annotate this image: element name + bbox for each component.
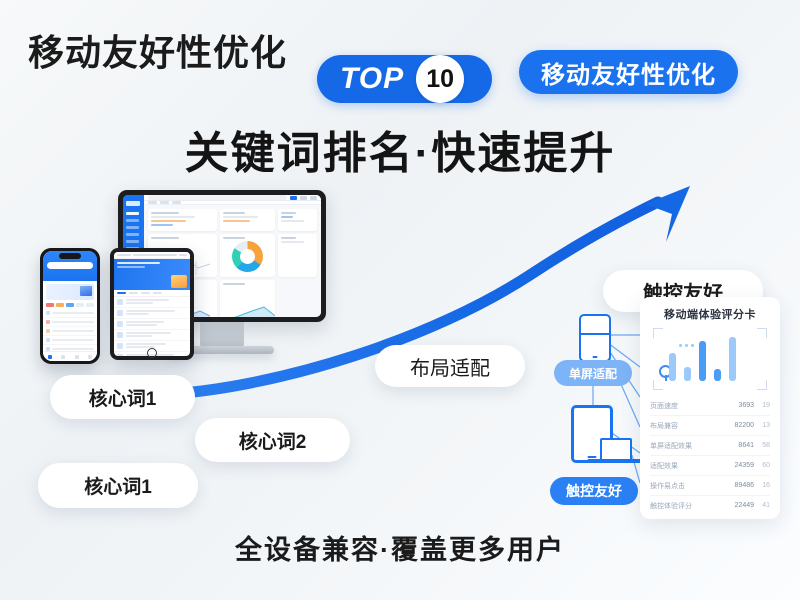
dashboard-nav-item bbox=[126, 212, 139, 215]
keyword-chip-1: 核心词1 bbox=[50, 375, 195, 419]
dashboard-nav-item bbox=[126, 233, 139, 236]
phone-mockup bbox=[40, 248, 100, 364]
score-card-rows: 页面速度 3693 19 布局兼容 82200 13 单屏适配效果 8641 5… bbox=[650, 396, 770, 515]
table-row: 触控体验评分 22449 41 bbox=[650, 496, 770, 515]
list-item bbox=[114, 319, 190, 330]
row-value-secondary: 13 bbox=[754, 422, 770, 429]
list-item bbox=[114, 308, 190, 319]
tablet-screen bbox=[114, 252, 190, 356]
diagram-tablet-icon bbox=[579, 314, 611, 362]
top-badge-number: 10 bbox=[416, 55, 464, 103]
dashboard-logo bbox=[126, 201, 140, 206]
list-item bbox=[43, 336, 97, 345]
monitor-stand bbox=[200, 321, 244, 348]
row-name: 布局兼容 bbox=[650, 421, 728, 431]
split-screen-tag: 单屏适配 bbox=[554, 360, 632, 386]
tablet-header bbox=[114, 252, 190, 259]
row-value-primary: 24359 bbox=[728, 462, 754, 469]
score-card-visual bbox=[653, 328, 767, 390]
row-value-secondary: 19 bbox=[754, 402, 770, 409]
row-value-secondary: 41 bbox=[754, 502, 770, 509]
row-name: 单屏适配效果 bbox=[650, 441, 728, 451]
touch-friendly-tag: 触控友好 bbox=[550, 477, 638, 505]
table-row: 页面速度 3693 19 bbox=[650, 396, 770, 416]
tablet-mockup bbox=[110, 248, 194, 360]
tablet-banner bbox=[114, 259, 190, 290]
dashboard-area-chart bbox=[220, 280, 275, 317]
tablet-bezel bbox=[110, 248, 194, 360]
dashboard-nav-item bbox=[126, 219, 139, 222]
top-badge-word: TOP bbox=[340, 62, 404, 96]
phone-search-bar bbox=[47, 262, 93, 269]
dashboard-card bbox=[220, 209, 275, 231]
list-item bbox=[43, 327, 97, 336]
row-value-secondary: 60 bbox=[754, 462, 770, 469]
list-item bbox=[43, 309, 97, 318]
table-row: 单屏适配效果 8641 58 bbox=[650, 436, 770, 456]
device-mockups bbox=[28, 190, 338, 370]
score-card-title: 移动端体验评分卡 bbox=[650, 306, 770, 322]
dashboard-action-chip bbox=[310, 196, 317, 200]
dashboard-card bbox=[148, 209, 217, 231]
dashboard-donut-chart bbox=[220, 234, 275, 277]
tablet-home-button bbox=[147, 348, 157, 358]
table-row: 布局兼容 82200 13 bbox=[650, 416, 770, 436]
row-value-primary: 22449 bbox=[728, 502, 754, 509]
row-name: 触控体验评分 bbox=[650, 501, 728, 511]
row-value-secondary: 16 bbox=[754, 482, 770, 489]
phone-screen bbox=[43, 251, 97, 361]
row-name: 适配效果 bbox=[650, 461, 728, 471]
row-value-primary: 3693 bbox=[728, 402, 754, 409]
row-value-primary: 89486 bbox=[728, 482, 754, 489]
dashboard-nav-item bbox=[126, 226, 139, 229]
dashboard-action-chip bbox=[290, 196, 297, 200]
row-name: 操作易点击 bbox=[650, 481, 728, 491]
mobile-experience-diagram: 单屏适配 触控友好 移动端体验评分卡 页 bbox=[540, 305, 780, 520]
banner-thumbnail bbox=[80, 286, 92, 296]
dashboard-card bbox=[278, 209, 317, 231]
top-10-badge: TOP 10 bbox=[317, 55, 492, 103]
score-card: 移动端体验评分卡 页面速度 3693 19 bbox=[640, 297, 780, 519]
dashboard-card bbox=[278, 234, 317, 277]
row-name: 页面速度 bbox=[650, 401, 728, 411]
dashboard-nav-item bbox=[126, 240, 139, 243]
dashboard-action-chip bbox=[300, 196, 307, 200]
table-row: 操作易点击 89486 16 bbox=[650, 476, 770, 496]
row-value-primary: 8641 bbox=[728, 442, 754, 449]
layout-adaptation-chip: 布局适配 bbox=[375, 345, 525, 387]
score-card-bars bbox=[669, 333, 757, 381]
phone-bezel bbox=[40, 248, 100, 364]
phone-banner bbox=[46, 284, 94, 300]
donut-chart-icon bbox=[232, 241, 263, 272]
banner-image bbox=[171, 275, 187, 288]
list-item bbox=[114, 330, 190, 341]
phone-notch bbox=[59, 253, 81, 259]
dashboard-search-bar bbox=[148, 195, 287, 200]
row-value-primary: 82200 bbox=[728, 422, 754, 429]
list-item bbox=[43, 318, 97, 327]
poster-canvas: 移动友好性优化 TOP 10 移动友好性优化 关键词排名·快速提升 bbox=[0, 0, 800, 600]
keyword-chip-2: 核心词2 bbox=[195, 418, 350, 462]
row-value-secondary: 58 bbox=[754, 442, 770, 449]
footer-tagline: 全设备兼容·覆盖更多用户 bbox=[0, 528, 800, 567]
table-row: 适配效果 24359 60 bbox=[650, 456, 770, 476]
tablet-tab-strip bbox=[114, 290, 190, 297]
header-blue-pill: 移动友好性优化 bbox=[519, 50, 738, 94]
keyword-chip-3: 核心词1 bbox=[38, 463, 198, 508]
phone-tab-bar bbox=[43, 351, 97, 361]
diagram-laptop-base bbox=[587, 459, 643, 463]
page-title: 关键词排名·快速提升 bbox=[0, 117, 800, 181]
header-kicker: 移动友好性优化 bbox=[28, 24, 287, 76]
list-item bbox=[114, 297, 190, 308]
